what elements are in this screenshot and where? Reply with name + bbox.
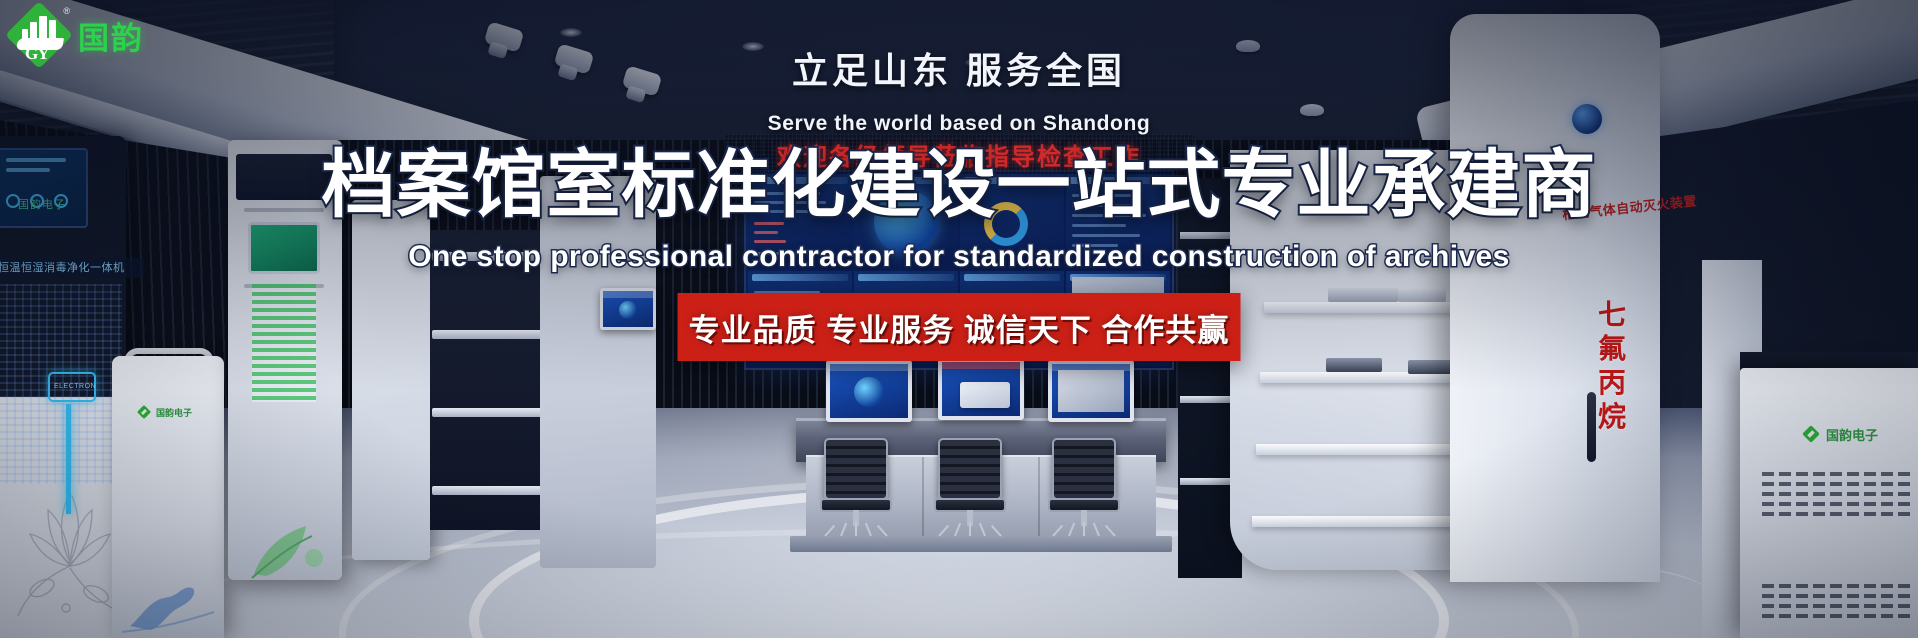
shelf-plank — [1256, 444, 1460, 455]
tagline-chinese: 立足山东 服务全国 — [0, 42, 1918, 94]
headline-english: One stop professional contractor for sta… — [0, 240, 1918, 274]
slogan-bar: 专业品质 专业服务 诚信天下 合作共赢 — [678, 293, 1241, 361]
logo-mark-text: GY — [25, 44, 49, 64]
decorative-horse-icon — [120, 578, 216, 634]
hero-banner: 33.33% — [0, 0, 1918, 638]
archive-box — [1328, 288, 1398, 302]
cart-brand-logo: 国韵电子 — [136, 404, 192, 420]
accent-light-strip — [66, 404, 71, 514]
right-equipment-brand-label: 国韵电子 — [1826, 425, 1878, 444]
fire-agent-label: 七氟丙烷 — [1592, 298, 1632, 435]
office-chair — [816, 438, 896, 534]
ac-green-graphic — [252, 284, 316, 402]
archive-box — [1398, 288, 1446, 302]
gy-diamond-logo-icon: GY ® — [8, 4, 70, 66]
shelf-plank — [1252, 516, 1460, 527]
trademark-symbol: ® — [63, 6, 70, 16]
electron-badge: ELECTRON — [48, 372, 96, 402]
gy-diamond-icon — [136, 404, 152, 420]
shelf-plank — [1264, 302, 1460, 313]
office-chair — [1044, 438, 1124, 534]
headline-chinese: 档案馆室标准化建设一站式专业承建商 — [0, 148, 1918, 222]
workstation-monitor — [1048, 360, 1134, 422]
brand-logo[interactable]: GY ® 国韵 — [8, 4, 144, 66]
console-desk-base — [790, 536, 1172, 552]
workstation-monitor — [938, 358, 1024, 420]
gy-diamond-icon — [1801, 424, 1821, 444]
slogan-text: 专业品质 专业服务 诚信天下 合作共赢 — [689, 305, 1230, 350]
workstation-monitor — [826, 360, 912, 422]
tagline-english: Serve the world based on Shandong — [0, 112, 1918, 136]
company-name: 国韵 — [78, 13, 144, 58]
cart-brand-label: 国韵电子 — [156, 406, 192, 419]
archive-box — [1326, 358, 1382, 372]
left-door-panel[interactable] — [540, 176, 656, 568]
decorative-leaf-icon — [244, 512, 332, 582]
office-chair — [930, 438, 1010, 534]
wall-mounted-display — [600, 288, 656, 330]
electron-badge-text: ELECTRON — [54, 383, 96, 390]
archive-box — [1408, 360, 1452, 374]
right-equipment-brand-logo: 国韵电子 — [1801, 424, 1878, 444]
downlight — [560, 28, 582, 37]
